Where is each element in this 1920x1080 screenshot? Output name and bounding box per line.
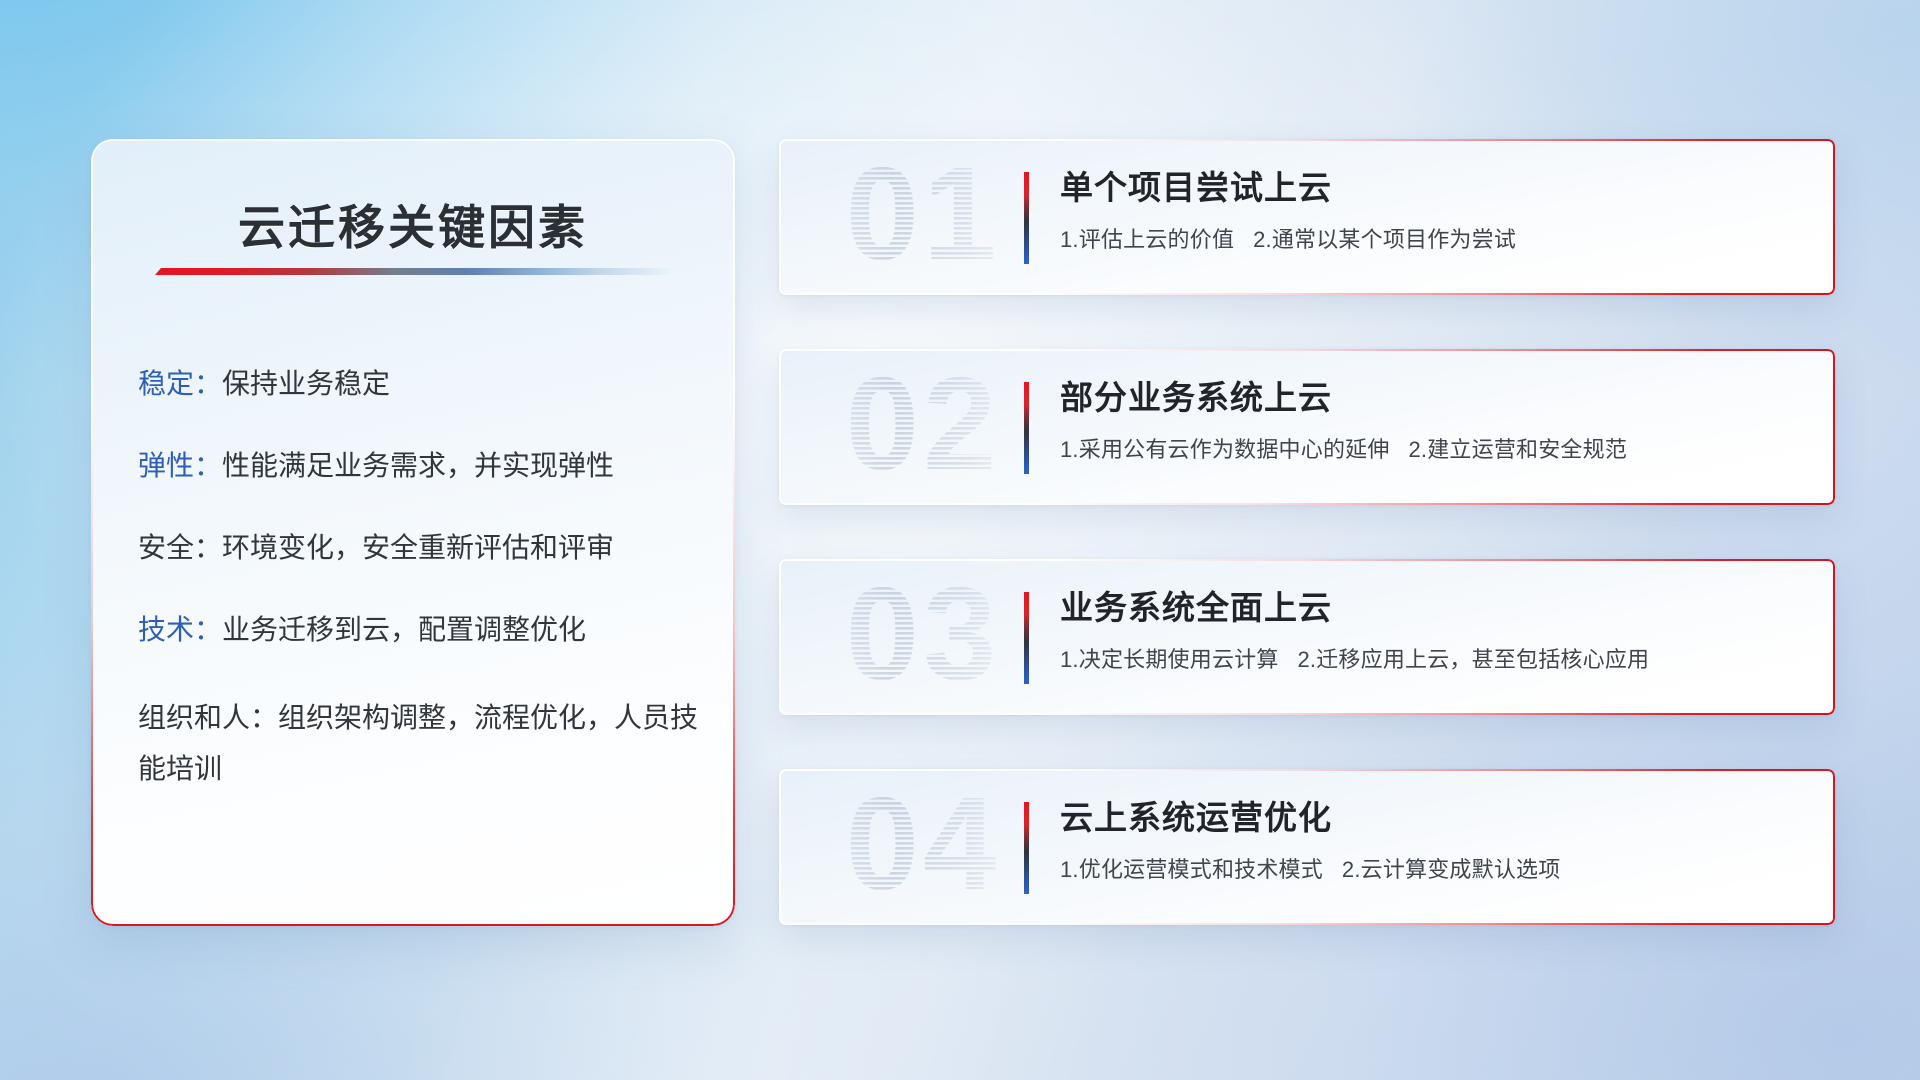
key-factor-text: 环境变化，安全重新评估和评审 <box>222 532 614 563</box>
svg-text:01: 01 <box>846 147 1001 287</box>
key-factor-item: 安全：环境变化，安全重新评估和评审 <box>138 529 699 567</box>
svg-text:03: 03 <box>846 567 1001 707</box>
card-accent-divider <box>1024 592 1029 684</box>
key-factors-panel: 云迁移关键因素 稳定：保持业务稳定弹性：性能满足业务需求，并实现弹性安全：环境变… <box>91 139 735 926</box>
card-accent-divider <box>1024 382 1029 474</box>
stage-number-watermark: 04 <box>817 777 1029 917</box>
svg-text:02: 02 <box>846 357 1001 497</box>
stage-card[interactable]: 01单个项目尝试上云1.评估上云的价值 2.通常以某个项目作为尝试 <box>779 139 1835 295</box>
maturity-stage-card-list: 01单个项目尝试上云1.评估上云的价值 2.通常以某个项目作为尝试02部分业务系… <box>779 139 1835 925</box>
card-title: 业务系统全面上云 <box>1060 581 1332 629</box>
stage-number-watermark: 03 <box>817 567 1029 707</box>
key-factor-item: 弹性：性能满足业务需求，并实现弹性 <box>138 447 699 485</box>
key-factor-label: 技术： <box>138 614 222 645</box>
card-title: 部分业务系统上云 <box>1060 371 1332 419</box>
key-factor-label: 安全： <box>138 532 222 563</box>
key-factor-item: 组织和人：组织架构调整，流程优化，人员技能培训 <box>138 693 699 795</box>
key-factor-label: 组织和人： <box>138 702 278 733</box>
key-factors-list: 稳定：保持业务稳定弹性：性能满足业务需求，并实现弹性安全：环境变化，安全重新评估… <box>138 365 699 795</box>
slide-canvas: 云迁移关键因素 稳定：保持业务稳定弹性：性能满足业务需求，并实现弹性安全：环境变… <box>0 0 1920 1080</box>
key-factor-label: 弹性： <box>138 450 222 481</box>
key-factor-item: 技术：业务迁移到云，配置调整优化 <box>138 611 699 649</box>
title-underline-gradient <box>155 268 675 275</box>
stage-number-watermark: 01 <box>817 147 1029 287</box>
key-factor-text: 保持业务稳定 <box>222 368 390 399</box>
key-factor-label: 稳定： <box>138 368 222 399</box>
svg-text:04: 04 <box>846 777 1001 917</box>
stage-card[interactable]: 02部分业务系统上云1.采用公有云作为数据中心的延伸 2.建立运营和安全规范 <box>779 349 1835 505</box>
card-accent-divider <box>1024 172 1029 264</box>
card-subtitle: 1.优化运营模式和技术模式 2.云计算变成默认选项 <box>1060 852 1560 884</box>
card-subtitle: 1.评估上云的价值 2.通常以某个项目作为尝试 <box>1060 222 1516 254</box>
card-subtitle: 1.决定长期使用云计算 2.迁移应用上云，甚至包括核心应用 <box>1060 642 1649 674</box>
card-title: 单个项目尝试上云 <box>1060 161 1332 209</box>
stage-number-watermark: 02 <box>817 357 1029 497</box>
card-accent-divider <box>1024 802 1029 894</box>
stage-card[interactable]: 03业务系统全面上云1.决定长期使用云计算 2.迁移应用上云，甚至包括核心应用 <box>779 559 1835 715</box>
stage-card[interactable]: 04云上系统运营优化1.优化运营模式和技术模式 2.云计算变成默认选项 <box>779 769 1835 925</box>
key-factor-item: 稳定：保持业务稳定 <box>138 365 699 403</box>
card-subtitle: 1.采用公有云作为数据中心的延伸 2.建立运营和安全规范 <box>1060 432 1627 464</box>
panel-title: 云迁移关键因素 <box>91 189 735 258</box>
key-factor-text: 业务迁移到云，配置调整优化 <box>222 614 586 645</box>
key-factor-text: 性能满足业务需求，并实现弹性 <box>222 450 614 481</box>
card-title: 云上系统运营优化 <box>1060 791 1332 839</box>
